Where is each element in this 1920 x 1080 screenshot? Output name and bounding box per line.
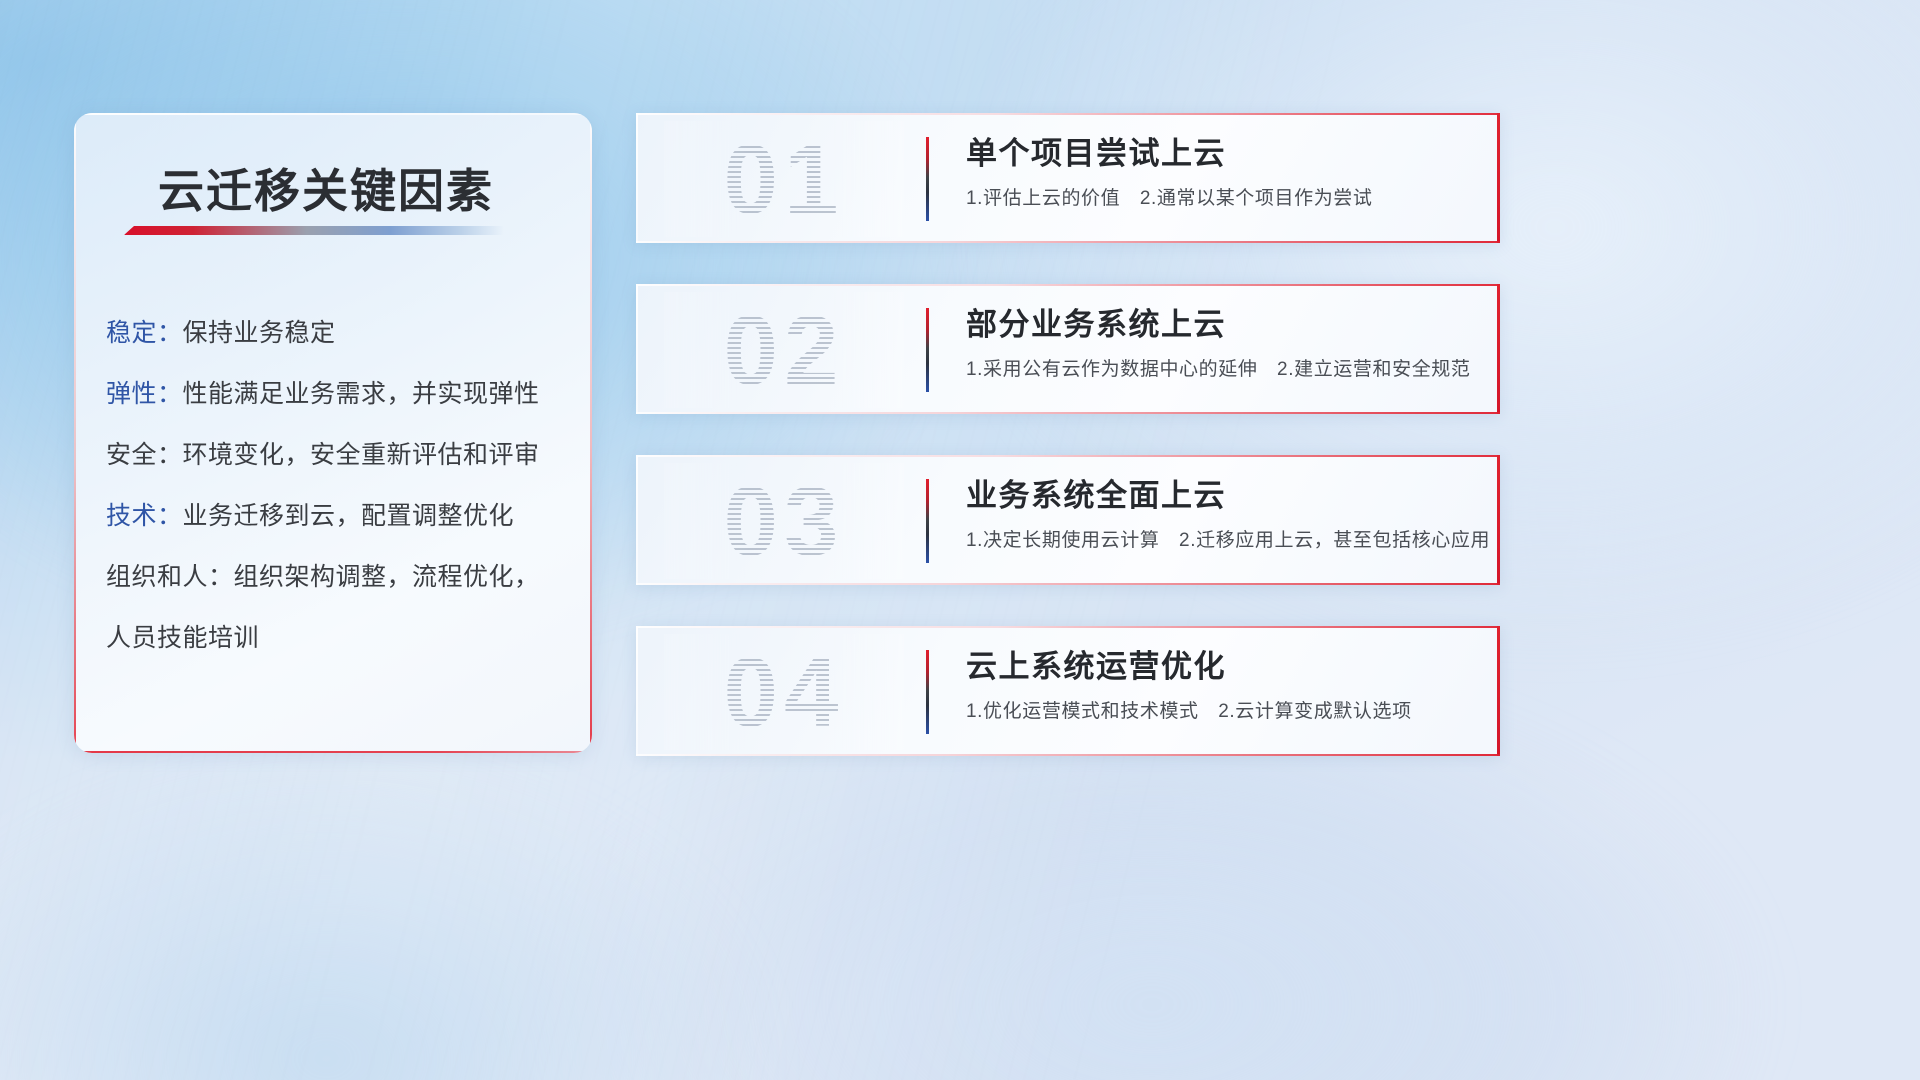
key-factors-panel: 云迁移关键因素 稳定：保持业务稳定 弹性：性能满足业务需求，并实现弹性 安全：环… [74, 113, 592, 753]
card-edge-top [636, 113, 1500, 115]
panel-edge-left [74, 113, 76, 753]
card-edge-left [636, 113, 638, 243]
list-item: 人员技能培训 [106, 608, 566, 669]
panel-edge-top [74, 113, 592, 115]
card-accent-divider [926, 137, 929, 221]
stage-card[interactable]: 01 单个项目尝试上云 1.评估上云的价值 2.通常以某个项目作为尝试 [636, 113, 1500, 243]
panel-title: 云迁移关键因素 [158, 155, 494, 221]
card-edge-top [636, 284, 1500, 286]
stage-cards-list: 01 单个项目尝试上云 1.评估上云的价值 2.通常以某个项目作为尝试 02 部… [636, 113, 1500, 797]
card-edge-right [1497, 455, 1500, 585]
panel-edge-right [590, 113, 592, 753]
card-text-block: 单个项目尝试上云 1.评估上云的价值 2.通常以某个项目作为尝试 [966, 131, 1472, 213]
list-item-text: 性能满足业务需求，并实现弹性 [183, 380, 540, 408]
card-title: 云上系统运营优化 [966, 644, 1472, 690]
key-factors-list: 稳定：保持业务稳定 弹性：性能满足业务需求，并实现弹性 安全：环境变化，安全重新… [106, 303, 566, 669]
card-text-block: 云上系统运营优化 1.优化运营模式和技术模式 2.云计算变成默认选项 [966, 644, 1472, 726]
list-item: 安全：环境变化，安全重新评估和评审 [106, 425, 566, 486]
title-underline-accent [124, 226, 504, 235]
slide-stage: 云迁移关键因素 稳定：保持业务稳定 弹性：性能满足业务需求，并实现弹性 安全：环… [0, 0, 1920, 1080]
card-step-number: 01 [664, 121, 904, 237]
list-item-key: 稳定： [106, 319, 183, 347]
card-text-block: 部分业务系统上云 1.采用公有云作为数据中心的延伸 2.建立运营和安全规范 [966, 302, 1472, 384]
card-edge-left [636, 455, 638, 585]
card-edge-top [636, 626, 1500, 628]
list-item: 技术：业务迁移到云，配置调整优化 [106, 486, 566, 547]
panel-edge-bottom [74, 751, 592, 753]
list-item-text: 业务迁移到云，配置调整优化 [183, 502, 515, 530]
card-title: 单个项目尝试上云 [966, 131, 1472, 177]
card-subtitle: 1.优化运营模式和技术模式 2.云计算变成默认选项 [966, 698, 1472, 726]
card-step-number: 03 [664, 463, 904, 579]
card-edge-right [1497, 113, 1500, 243]
card-edge-left [636, 284, 638, 414]
card-text-block: 业务系统全面上云 1.决定长期使用云计算 2.迁移应用上云，甚至包括核心应用 [966, 473, 1472, 555]
card-step-number: 02 [664, 292, 904, 408]
card-edge-bottom [636, 754, 1500, 756]
card-accent-divider [926, 479, 929, 563]
list-item: 弹性：性能满足业务需求，并实现弹性 [106, 364, 566, 425]
card-edge-top [636, 455, 1500, 457]
card-accent-divider [926, 308, 929, 392]
stage-card[interactable]: 04 云上系统运营优化 1.优化运营模式和技术模式 2.云计算变成默认选项 [636, 626, 1500, 756]
card-edge-right [1497, 284, 1500, 414]
card-edge-left [636, 626, 638, 756]
list-item-text: 组织和人：组织架构调整，流程优化， [106, 563, 540, 591]
list-item-text: 人员技能培训 [106, 624, 259, 652]
list-item: 组织和人：组织架构调整，流程优化， [106, 547, 566, 608]
card-edge-bottom [636, 412, 1500, 414]
card-title: 业务系统全面上云 [966, 473, 1472, 519]
card-edge-bottom [636, 241, 1500, 243]
list-item: 稳定：保持业务稳定 [106, 303, 566, 364]
stage-card[interactable]: 03 业务系统全面上云 1.决定长期使用云计算 2.迁移应用上云，甚至包括核心应… [636, 455, 1500, 585]
card-title: 部分业务系统上云 [966, 302, 1472, 348]
card-edge-right [1497, 626, 1500, 756]
card-edge-bottom [636, 583, 1500, 585]
list-item-key: 技术： [106, 502, 183, 530]
list-item-text: 安全：环境变化，安全重新评估和评审 [106, 441, 540, 469]
list-item-text: 保持业务稳定 [183, 319, 336, 347]
card-step-number: 04 [664, 634, 904, 750]
card-subtitle: 1.采用公有云作为数据中心的延伸 2.建立运营和安全规范 [966, 356, 1472, 384]
card-subtitle: 1.决定长期使用云计算 2.迁移应用上云，甚至包括核心应用 [966, 527, 1472, 555]
card-accent-divider [926, 650, 929, 734]
stage-card[interactable]: 02 部分业务系统上云 1.采用公有云作为数据中心的延伸 2.建立运营和安全规范 [636, 284, 1500, 414]
card-subtitle: 1.评估上云的价值 2.通常以某个项目作为尝试 [966, 185, 1472, 213]
list-item-key: 弹性： [106, 380, 183, 408]
